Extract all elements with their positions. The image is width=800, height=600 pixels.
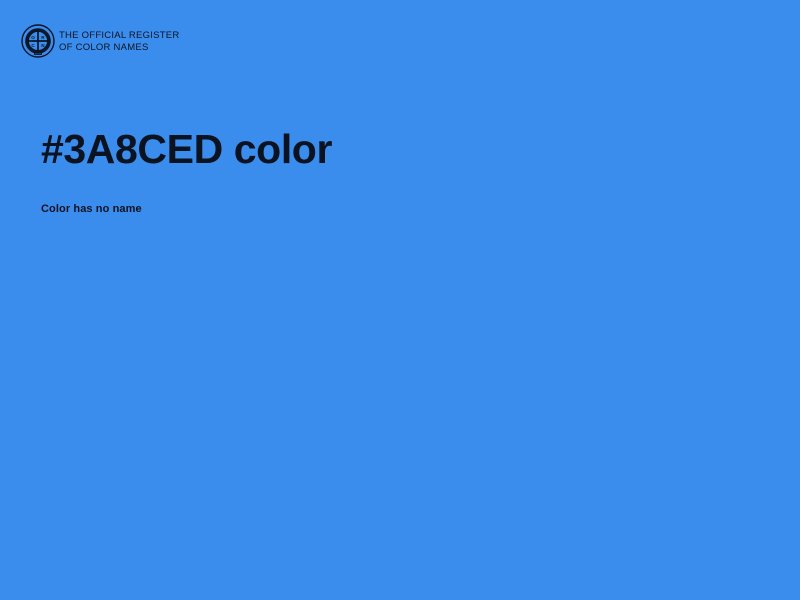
brand-wordmark: THE OFFICIAL REGISTER OF COLOR NAMES: [59, 29, 180, 52]
svg-text:C: C: [31, 43, 35, 48]
color-info: #3A8CED color Color has no name: [41, 128, 741, 215]
color-page: O R C N THE OFFICIAL REGISTER OF COLOR N…: [0, 0, 800, 600]
svg-text:R: R: [41, 35, 45, 40]
register-seal-icon: O R C N: [21, 24, 55, 58]
brand-logo[interactable]: O R C N THE OFFICIAL REGISTER OF COLOR N…: [21, 24, 180, 58]
page-title: #3A8CED color: [41, 128, 741, 171]
brand-line-1: THE OFFICIAL REGISTER: [59, 30, 180, 41]
color-name-status: Color has no name: [41, 171, 741, 215]
brand-line-2: OF COLOR NAMES: [59, 42, 180, 53]
svg-text:O: O: [31, 35, 35, 40]
